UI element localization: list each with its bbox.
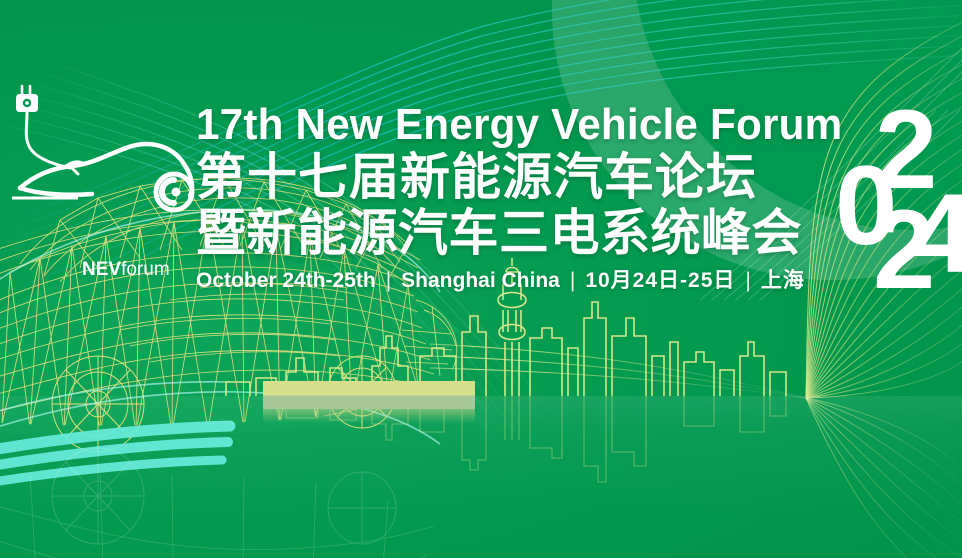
logo-name-light: forum <box>121 259 170 280</box>
logo-name-bold: NEV <box>82 259 121 280</box>
wheel-icon <box>156 174 192 210</box>
logo-mark <box>8 76 208 226</box>
meta-city-en: Shanghai China <box>401 269 560 293</box>
ground-bar-reflection <box>263 409 475 423</box>
ev-plug-icon <box>22 86 30 94</box>
nevforum-logo[interactable]: NEVforum <box>8 76 184 206</box>
meta-date-cn: 10月24日-25日 <box>585 269 735 293</box>
reflection-floor <box>0 396 962 558</box>
meta-separator-2: | <box>570 269 575 293</box>
meta-separator-3: | <box>745 269 750 293</box>
meta-date-en: October 24th-25th <box>196 269 376 293</box>
ground-bar <box>263 381 475 409</box>
page-title-cn-line2: 暨新能源汽车三电系统峰会 <box>196 205 836 261</box>
year-graphic: 0 4 2 2 <box>843 108 955 308</box>
event-meta: October 24th-25th | Shanghai China | 10月… <box>196 269 836 293</box>
headline-block: 17th New Energy Vehicle Forum 第十七届新能源汽车论… <box>196 101 836 293</box>
meta-separator-1: | <box>386 269 391 293</box>
logo-wordmark: NEVforum <box>82 260 170 280</box>
page-title-cn-line1: 第十七届新能源汽车论坛 <box>196 149 836 205</box>
nev-forum-poster: NEVforum 17th New Energy Vehicle Forum 第… <box>0 0 962 558</box>
charging-cable-icon <box>26 112 70 168</box>
car-silhouette-icon <box>20 144 192 196</box>
year-digit-2b: 2 <box>873 194 935 306</box>
meta-city-cn: 上海 <box>761 269 805 293</box>
page-title-en: 17th New Energy Vehicle Forum <box>196 101 810 149</box>
